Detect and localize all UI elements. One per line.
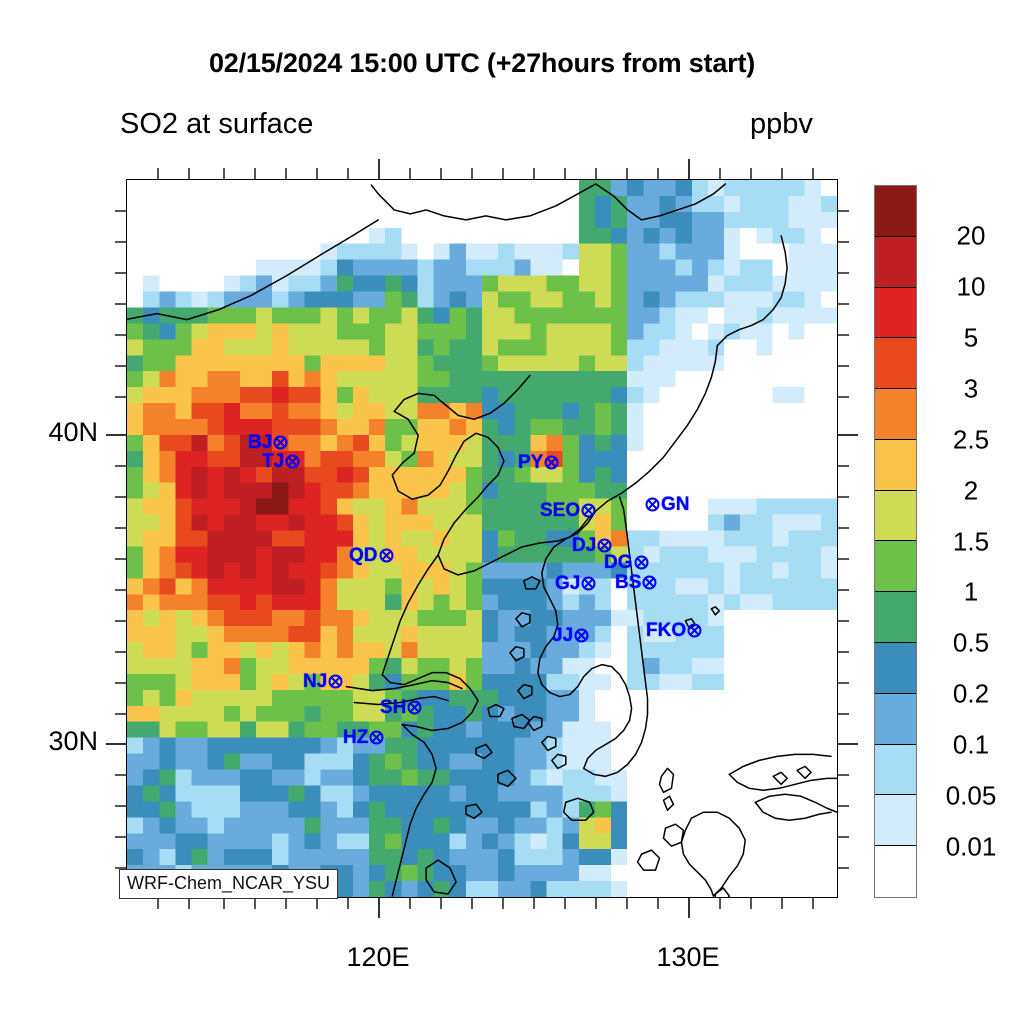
city-label-nj: NJ [303,672,327,691]
city-cross-circle-icon [544,455,559,470]
colorbar-band-12 [875,795,916,846]
x-tick-minor [188,898,190,909]
y-tick-minor-right [838,241,849,243]
unit-label: ppbv [750,108,813,141]
x-tick-minor [502,898,504,909]
x-tick-minor-top [781,168,783,179]
city-label-seo: SEO [540,501,580,520]
x-tick-minor-top [316,168,318,179]
page-title: 02/15/2024 15:00 UTC (+27hours from star… [0,48,964,79]
city-label-py: PY [518,453,543,472]
x-tick-minor [719,898,721,909]
city-cross-circle-icon [273,435,288,450]
y-tick-minor [115,836,126,838]
city-label-bj: BJ [248,433,272,452]
city-label-gn: GN [661,495,690,514]
y-tick-minor-right [838,682,849,684]
colorbar-label-3: 3 [922,373,1020,404]
x-tick-minor [626,898,628,909]
x-tick-minor [533,898,535,909]
x-tick-minor [157,898,159,909]
y-tick-minor [115,774,126,776]
x-tick-minor [409,898,411,909]
x-tick-minor-top [502,168,504,179]
colorbar-label-0.01: 0.01 [922,832,1020,863]
y-tick-minor [115,210,126,212]
colorbar-label-5: 5 [922,322,1020,353]
colorbar-band-4 [875,389,916,440]
y-tick-minor-right [838,210,849,212]
y-tick-minor [115,805,126,807]
city-marker-sh: SH [380,698,422,717]
x-tick-minor-top [812,168,814,179]
x-tick-minor-top [157,168,159,179]
city-marker-tj: TJ [262,452,300,471]
x-tick-minor-top [254,168,256,179]
y-tick-minor-right [838,272,849,274]
colorbar-tick-labels: 2010532.521.510.50.20.10.050.01 [922,185,1022,898]
x-tick-minor [564,898,566,909]
y-tick-minor [115,396,126,398]
x-tick-minor [316,898,318,909]
x-tick-minor-top [595,168,597,179]
colorbar-label-1: 1 [922,577,1020,608]
y-tick-minor [115,241,126,243]
y-tick-minor [115,713,126,715]
coastline-overlay [127,180,837,897]
y-tick-minor [115,496,126,498]
city-marker-bs: BS [615,573,657,592]
y-tick-minor-right [838,620,849,622]
city-label-hz: HZ [343,728,368,747]
y-tick-minor-right [838,558,849,560]
city-marker-hz: HZ [343,728,384,747]
x-tick-minor-top [409,168,411,179]
model-attribution-tag: WRF-Chem_NCAR_YSU [119,869,338,899]
x-tick-minor [595,898,597,909]
city-cross-circle-icon [581,576,596,591]
city-marker-py: PY [518,453,559,472]
colorbar-band-11 [875,745,916,796]
colorbar-band-13 [875,846,916,897]
colorbar-band-0 [875,186,916,237]
y-tick-minor [115,527,126,529]
x-tick-minor [254,898,256,909]
city-marker-qd: QD [349,546,394,565]
city-cross-circle-icon [645,497,660,512]
colorbar-label-0.5: 0.5 [922,628,1020,659]
y-axis-label-40N: 40N [10,417,98,448]
y-tick-minor [115,303,126,305]
y-tick-minor-right [838,365,849,367]
city-label-jj: JJ [552,626,573,645]
y-tick-major [106,434,126,436]
x-tick-major [688,898,690,918]
city-marker-bj: BJ [248,433,288,452]
y-tick-minor-right [838,303,849,305]
x-tick-minor-top [285,168,287,179]
x-tick-minor-top [564,168,566,179]
colorbar-label-2.5: 2.5 [922,424,1020,455]
city-marker-jj: JJ [552,626,589,645]
city-label-bs: BS [615,573,641,592]
x-tick-minor-top [533,168,535,179]
city-marker-dg: DG [604,553,649,572]
y-tick-major-right [838,743,858,745]
city-label-dj: DJ [572,536,596,555]
city-label-qd: QD [349,546,378,565]
colorbar-label-20: 20 [922,220,1020,251]
x-tick-major-top [688,159,690,179]
y-tick-minor [115,272,126,274]
y-tick-minor-right [838,496,849,498]
city-cross-circle-icon [574,628,589,643]
x-tick-minor [471,898,473,909]
x-tick-major-top [378,159,380,179]
y-tick-minor [115,620,126,622]
city-marker-gj: GJ [555,574,596,593]
y-tick-minor-right [838,396,849,398]
colorbar-band-8 [875,592,916,643]
city-cross-circle-icon [407,700,422,715]
city-label-dg: DG [604,553,633,572]
x-tick-minor-top [223,168,225,179]
map-plot-area [126,179,838,898]
city-label-tj: TJ [262,452,284,471]
city-cross-circle-icon [285,454,300,469]
x-tick-minor [223,898,225,909]
x-tick-major [378,898,380,918]
x-tick-minor [285,898,287,909]
x-tick-minor-top [188,168,190,179]
colorbar-label-0.05: 0.05 [922,781,1020,812]
x-axis-label-130E: 130E [650,942,726,973]
colorbar-label-1.5: 1.5 [922,526,1020,557]
colorbar-band-2 [875,288,916,339]
x-tick-minor [347,898,349,909]
y-tick-minor-right [838,527,849,529]
city-cross-circle-icon [687,623,702,638]
y-tick-minor [115,334,126,336]
x-tick-minor-top [657,168,659,179]
y-tick-minor [115,651,126,653]
y-tick-minor [115,682,126,684]
y-axis-label-30N: 30N [10,726,98,757]
x-tick-minor-top [471,168,473,179]
colorbar[interactable] [874,185,917,898]
y-tick-minor-right [838,334,849,336]
colorbar-band-3 [875,338,916,389]
colorbar-band-6 [875,491,916,542]
x-axis-label-120E: 120E [340,942,416,973]
x-tick-minor-top [347,168,349,179]
colorbar-band-10 [875,694,916,745]
colorbar-label-0.2: 0.2 [922,679,1020,710]
y-tick-minor [115,558,126,560]
colorbar-band-5 [875,440,916,491]
city-cross-circle-icon [328,674,343,689]
x-tick-minor [750,898,752,909]
city-marker-seo: SEO [540,501,596,520]
y-tick-minor-right [838,589,849,591]
x-tick-minor [440,898,442,909]
x-tick-minor-top [719,168,721,179]
y-tick-minor-right [838,836,849,838]
city-marker-gn: GN [645,495,690,514]
city-marker-nj: NJ [303,672,343,691]
y-tick-major [106,743,126,745]
x-tick-minor [657,898,659,909]
y-tick-minor [115,589,126,591]
city-cross-circle-icon [581,503,596,518]
y-tick-minor-right [838,713,849,715]
city-cross-circle-icon [634,555,649,570]
city-cross-circle-icon [379,548,394,563]
city-label-fko: FKO [646,621,686,640]
y-tick-minor [115,465,126,467]
city-cross-circle-icon [642,575,657,590]
y-tick-minor-right [838,805,849,807]
x-tick-minor [812,898,814,909]
x-tick-minor-top [626,168,628,179]
colorbar-band-1 [875,237,916,288]
y-tick-minor-right [838,867,849,869]
y-tick-major-right [838,434,858,436]
city-marker-fko: FKO [646,621,702,640]
city-cross-circle-icon [369,730,384,745]
y-tick-minor [115,365,126,367]
colorbar-band-7 [875,541,916,592]
y-tick-minor-right [838,651,849,653]
colorbar-band-9 [875,643,916,694]
y-tick-minor-right [838,465,849,467]
city-label-sh: SH [380,698,406,717]
x-tick-minor [781,898,783,909]
colorbar-label-10: 10 [922,271,1020,302]
colorbar-label-0.1: 0.1 [922,730,1020,761]
y-tick-minor-right [838,774,849,776]
city-cross-circle-icon [597,538,612,553]
x-tick-minor-top [750,168,752,179]
colorbar-label-2: 2 [922,475,1020,506]
city-label-gj: GJ [555,574,580,593]
x-tick-minor-top [440,168,442,179]
variable-title: SO2 at surface [120,108,313,141]
